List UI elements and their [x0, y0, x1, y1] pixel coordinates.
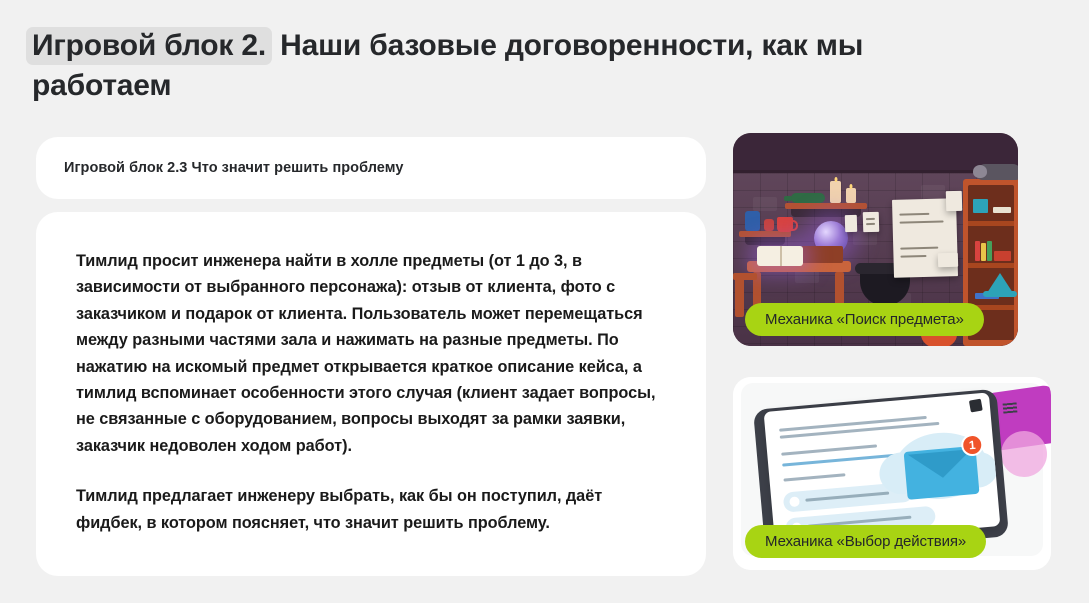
book-green: [987, 241, 992, 261]
left-column: Игровой блок 2.3 Что значит решить пробл…: [36, 137, 706, 576]
green-bottle: [791, 193, 825, 203]
tablet-screen: 1: [764, 392, 1001, 545]
desk-drawers: [801, 246, 843, 263]
chair-seat: [733, 273, 757, 280]
book-stack-top: [993, 207, 1011, 213]
tablet-speaker-icon: [1003, 402, 1018, 413]
section-header-title: Игровой блок 2.3 Что значит решить пробл…: [64, 160, 403, 176]
book-red: [975, 241, 980, 261]
candle-short: [846, 188, 856, 203]
radio-icon-1[interactable]: [789, 496, 800, 507]
poster-note-a: [863, 212, 880, 232]
section-body-card: Тимлид просит инженера найти в холле пре…: [36, 212, 706, 576]
book-teal: [973, 199, 988, 213]
media-badge-action-choice: Механика «Выбор действия»: [745, 525, 986, 558]
potion-jar-red: [764, 219, 774, 231]
page-title: Игровой блок 2. Наши базовые договоренно…: [32, 26, 992, 105]
close-icon[interactable]: [969, 399, 983, 413]
red-mug: [777, 217, 793, 232]
body-paragraph-2: Тимлид предлагает инженеру выбрать, как …: [76, 483, 666, 536]
wizard-hat: [987, 273, 1013, 293]
media-card-item-search[interactable]: Механика «Поиск предмета»: [733, 133, 1018, 346]
sleeping-cat: [976, 164, 1018, 180]
poster-note-b: [845, 215, 857, 232]
media-card-action-choice[interactable]: 1 Механика «Выбор действия»: [733, 377, 1051, 570]
section-header-card: Игровой блок 2.3 Что значит решить пробл…: [36, 137, 706, 199]
media-badge-item-search: Механика «Поиск предмета»: [745, 303, 984, 336]
open-spellbook: [757, 246, 803, 266]
book-yellow: [981, 243, 986, 261]
pink-decoration-circle: [1001, 431, 1047, 477]
body-paragraph-1: Тимлид просит инженера найти в холле пре…: [76, 248, 666, 459]
page-title-highlight: Игровой блок 2.: [26, 27, 272, 65]
poster-right-lower: [938, 253, 958, 268]
book-stack-mid: [994, 251, 1011, 261]
potion-jar-blue: [745, 211, 760, 231]
shelf-upper: [785, 203, 867, 209]
candle-tall: [830, 181, 841, 203]
poster-right-small: [946, 191, 963, 211]
right-column: Механика «Поиск предмета»: [733, 133, 1051, 570]
